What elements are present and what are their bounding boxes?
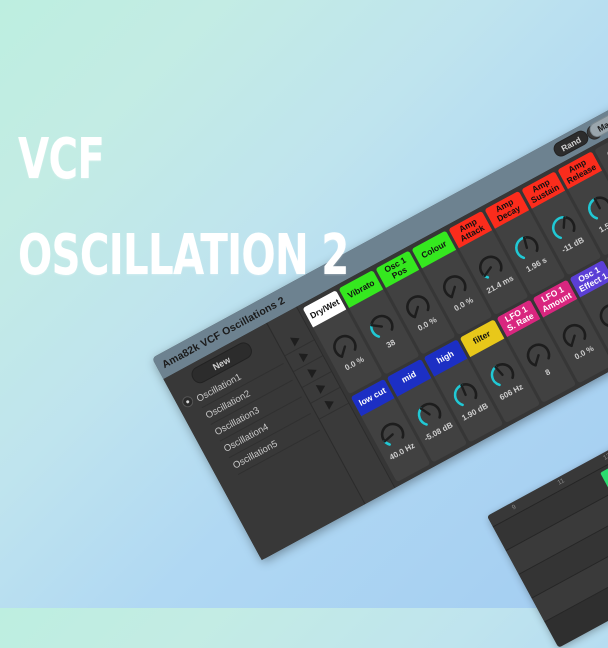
ruler-tick: 9 (511, 504, 518, 512)
triangle-right-icon (289, 334, 301, 347)
screenshot-stage: 911131517 Ama82k VCF Oscillations 2 ? ● … (0, 0, 608, 608)
triangle-right-icon (307, 365, 319, 378)
triangle-right-icon (324, 397, 336, 410)
macro-knob[interactable] (592, 297, 608, 335)
macro-value: 8 (544, 368, 552, 378)
ruler-tick: 11 (557, 477, 566, 486)
macro-knob[interactable] (362, 307, 400, 345)
ruler-tick: 13 (602, 452, 608, 462)
macro-knob[interactable] (581, 189, 608, 227)
triangle-right-icon (298, 349, 310, 362)
triangle-right-icon (315, 381, 327, 394)
macro-knob[interactable] (520, 336, 558, 374)
